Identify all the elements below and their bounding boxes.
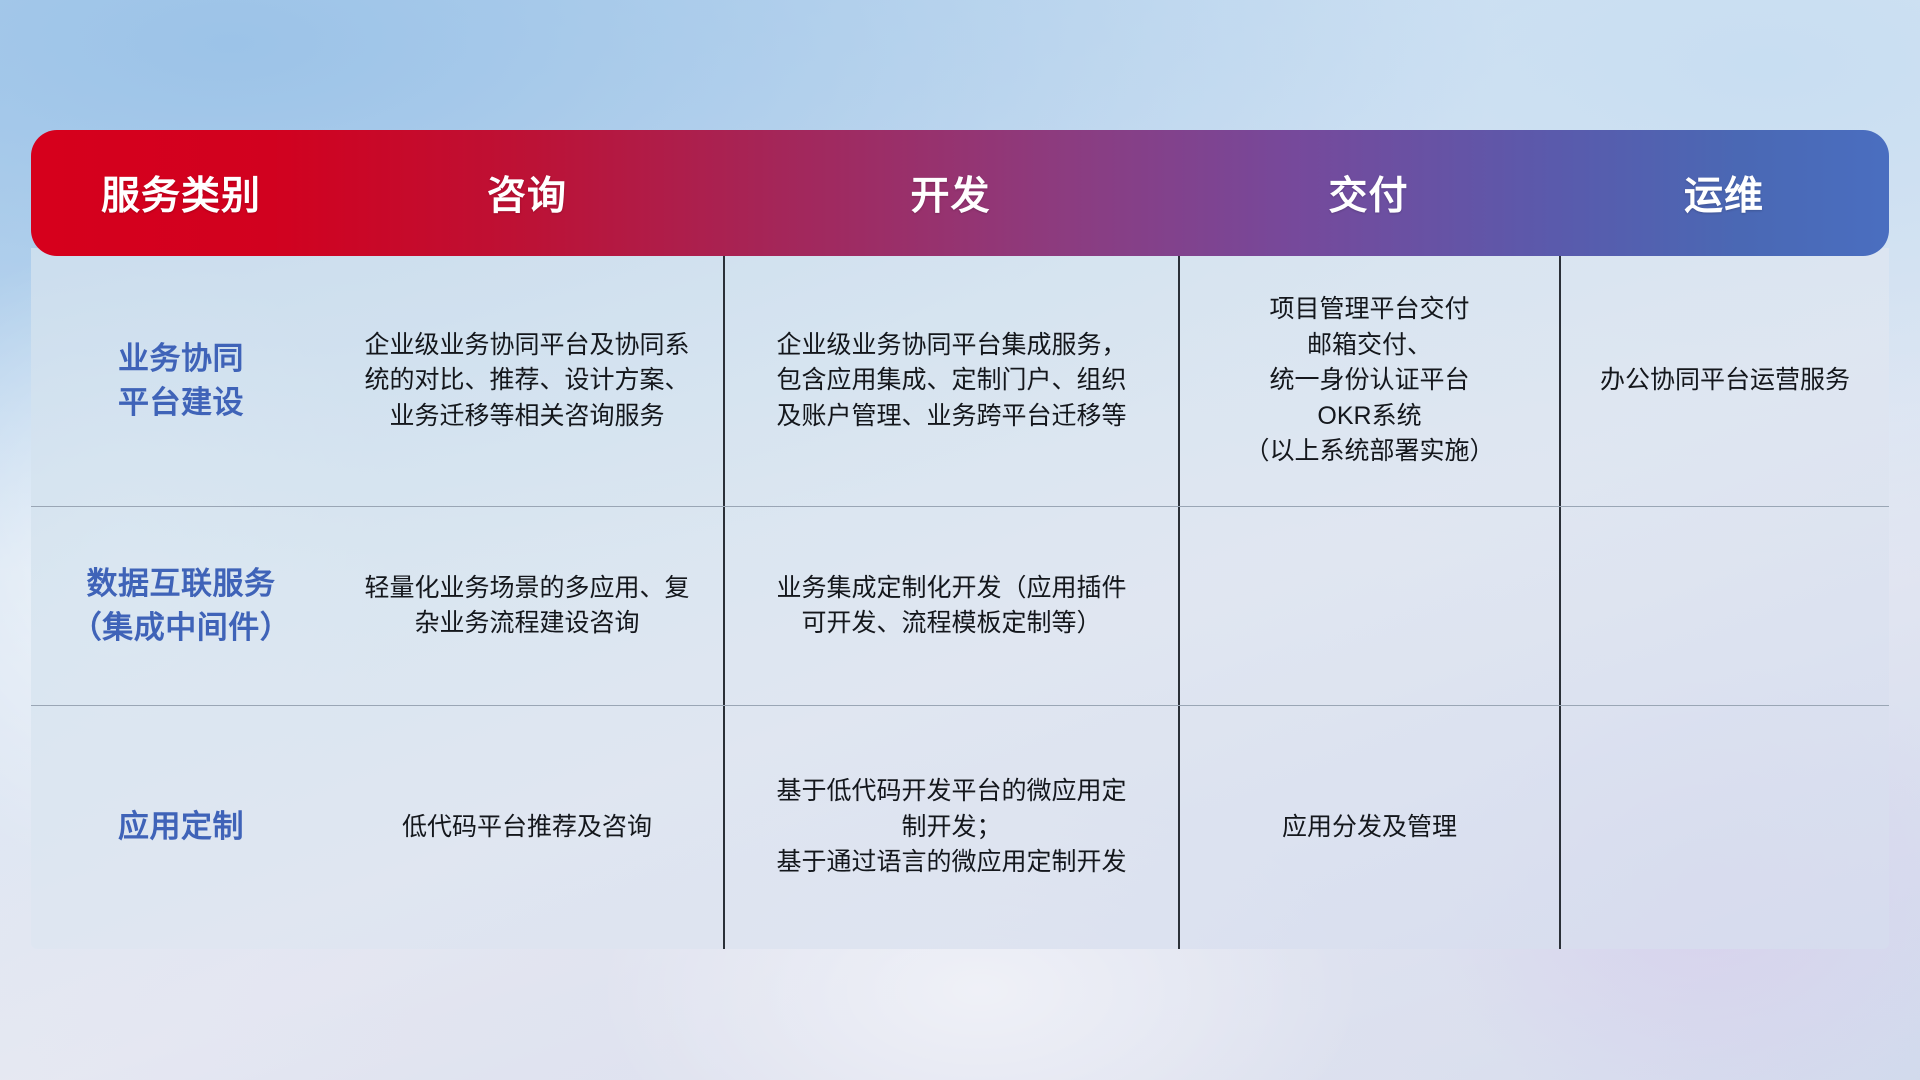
cell-operations xyxy=(1559,507,1889,705)
row-category-label: 业务协同 平台建设 xyxy=(31,256,331,506)
cell-development: 企业级业务协同平台集成服务， 包含应用集成、定制门户、组织 及账户管理、业务跨平… xyxy=(723,256,1178,506)
service-matrix-table: 服务类别 咨询 开发 交付 运维 业务协同 平台建设 企业级业务协同平台及协同系… xyxy=(31,130,1889,949)
cell-delivery xyxy=(1178,507,1559,705)
table-body: 业务协同 平台建设 企业级业务协同平台及协同系 统的对比、推荐、设计方案、 业务… xyxy=(31,248,1889,949)
cell-consulting: 低代码平台推荐及咨询 xyxy=(331,706,723,949)
column-header-consulting: 咨询 xyxy=(331,130,723,256)
table-row: 数据互联服务 （集成中间件） 轻量化业务场景的多应用、复 杂业务流程建设咨询 业… xyxy=(31,506,1889,705)
cell-delivery: 应用分发及管理 xyxy=(1178,706,1559,949)
row-category-label: 应用定制 xyxy=(31,706,331,949)
column-header-category: 服务类别 xyxy=(31,130,331,256)
cell-development: 业务集成定制化开发（应用插件 可开发、流程模板定制等） xyxy=(723,507,1178,705)
table-header-row: 服务类别 咨询 开发 交付 运维 xyxy=(31,130,1889,256)
cell-consulting: 轻量化业务场景的多应用、复 杂业务流程建设咨询 xyxy=(331,507,723,705)
table-row: 应用定制 低代码平台推荐及咨询 基于低代码开发平台的微应用定 制开发； 基于通过… xyxy=(31,705,1889,949)
column-header-operations: 运维 xyxy=(1559,130,1889,256)
cell-delivery: 项目管理平台交付 邮箱交付、 统一身份认证平台 OKR系统 （以上系统部署实施） xyxy=(1178,256,1559,506)
cell-operations xyxy=(1559,706,1889,949)
column-header-development: 开发 xyxy=(723,130,1178,256)
column-header-delivery: 交付 xyxy=(1178,130,1559,256)
cell-development: 基于低代码开发平台的微应用定 制开发； 基于通过语言的微应用定制开发 xyxy=(723,706,1178,949)
cell-operations: 办公协同平台运营服务 xyxy=(1559,256,1889,506)
table-row: 业务协同 平台建设 企业级业务协同平台及协同系 统的对比、推荐、设计方案、 业务… xyxy=(31,256,1889,506)
cell-consulting: 企业级业务协同平台及协同系 统的对比、推荐、设计方案、 业务迁移等相关咨询服务 xyxy=(331,256,723,506)
row-category-label: 数据互联服务 （集成中间件） xyxy=(31,507,331,705)
